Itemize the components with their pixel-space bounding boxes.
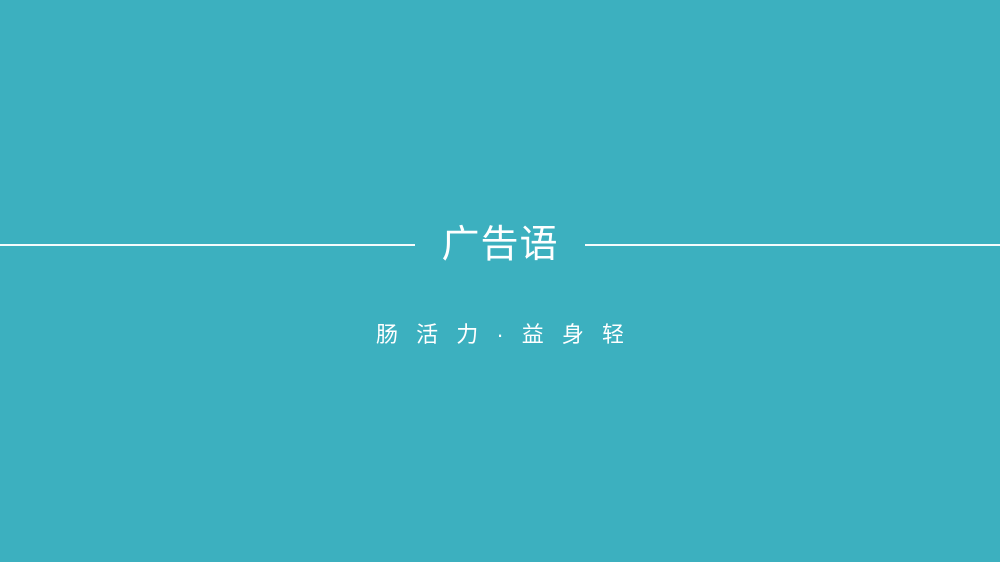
subtitle-container: 肠 活 力 · 益 身 轻	[0, 318, 1000, 352]
title-container: 广告语	[0, 216, 1000, 274]
page-title: 广告语	[427, 226, 572, 264]
slide-canvas: 广告语 肠 活 力 · 益 身 轻	[0, 0, 1000, 562]
page-subtitle: 肠 活 力 · 益 身 轻	[370, 324, 630, 346]
